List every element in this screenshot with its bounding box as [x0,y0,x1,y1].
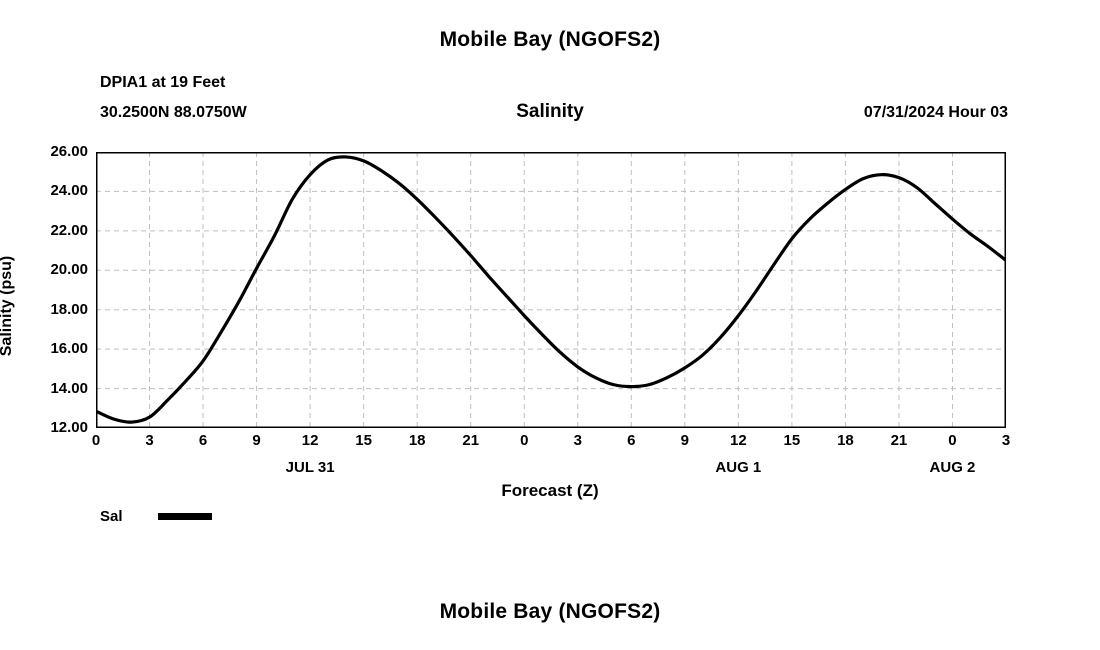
x-tick-label: 6 [611,432,651,449]
x-tick-label: 6 [183,432,223,449]
x-tick-label: 0 [504,432,544,449]
plot-area [96,152,1006,428]
x-tick-label: 0 [932,432,972,449]
x-axis-day-label: JUL 31 [250,459,370,476]
x-axis-label: Forecast (Z) [0,481,1100,501]
x-tick-label: 15 [772,432,812,449]
x-tick-label: 18 [397,432,437,449]
y-tick-label: 18.00 [18,301,88,318]
y-tick-label: 22.00 [18,222,88,239]
x-tick-label: 0 [76,432,116,449]
legend: Sal [100,508,212,525]
y-tick-label: 16.00 [18,340,88,357]
x-tick-label: 21 [451,432,491,449]
y-tick-label: 14.00 [18,380,88,397]
x-tick-label: 9 [237,432,277,449]
x-tick-label: 18 [825,432,865,449]
legend-swatch-sal [158,513,212,520]
salinity-line-chart [96,152,1006,428]
x-tick-label: 12 [290,432,330,449]
y-tick-label: 20.00 [18,261,88,278]
y-tick-label: 24.00 [18,182,88,199]
x-axis-day-label: AUG 1 [678,459,798,476]
page-title-top: Mobile Bay (NGOFS2) [0,28,1100,52]
y-axis-label: Salinity (psu) [0,196,16,416]
legend-label-sal: Sal [100,508,158,525]
page-title-bottom: Mobile Bay (NGOFS2) [0,600,1100,624]
x-tick-label: 3 [130,432,170,449]
x-tick-label: 21 [879,432,919,449]
x-tick-label: 15 [344,432,384,449]
x-axis-day-label: AUG 2 [892,459,1012,476]
plot-frame [97,153,1006,428]
data-series-line [96,157,1006,422]
x-tick-label: 3 [986,432,1026,449]
x-tick-label: 3 [558,432,598,449]
y-tick-label: 26.00 [18,143,88,160]
station-label: DPIA1 at 19 Feet [100,74,225,92]
model-run-time: 07/31/2024 Hour 03 [864,104,1008,122]
x-tick-label: 12 [718,432,758,449]
x-tick-label: 9 [665,432,705,449]
